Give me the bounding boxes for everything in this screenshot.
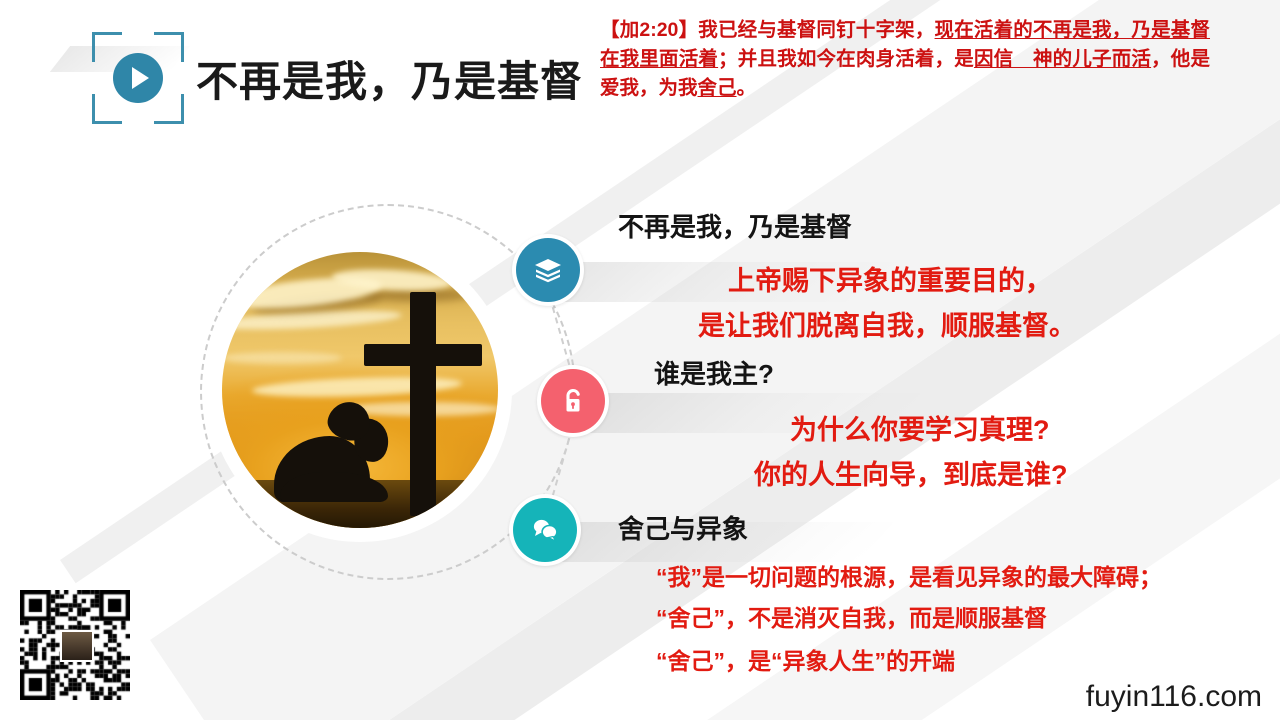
chat-bubbles-icon — [513, 498, 577, 562]
block-2-line-2: 你的人生向导，到底是谁? — [754, 453, 1068, 492]
block-1-heading: 不再是我，乃是基督 — [618, 213, 1076, 242]
bullet-icon-chat[interactable] — [509, 494, 581, 566]
content-block-3: 舍己与异象 “我”是一切问题的根源，是看见异象的最大障碍； “舍己”，不是消灭自… — [618, 515, 1162, 676]
block-3-line-2: “舍己”，不是消灭自我，而是顺服基督 — [656, 599, 1162, 633]
logo-frame — [92, 32, 184, 124]
site-watermark: fuyin116.com — [1086, 680, 1262, 714]
qr-center-logo — [60, 630, 94, 662]
content-block-1: 不再是我，乃是基督 上帝赐下异象的重要目的， 是让我们脱离自我，顺服基督。 — [618, 213, 1076, 343]
layers-icon — [516, 238, 580, 302]
block-2-heading: 谁是我主? — [654, 360, 1068, 389]
play-button-icon — [113, 53, 163, 103]
block-3-line-1: “我”是一切问题的根源，是看见异象的最大障碍； — [656, 558, 1162, 592]
bullet-icon-unlock[interactable] — [537, 365, 609, 437]
content-block-2: 谁是我主? 为什么你要学习真理? 你的人生向导，到底是谁? — [654, 360, 1068, 492]
block-3-line-3: “舍己”，是“异象人生”的开端 — [656, 642, 1162, 676]
scripture-verse: 【加2:20】我已经与基督同钉十字架，现在活着的不再是我，乃是基督在我里面活着；… — [600, 16, 1210, 103]
qr-code[interactable] — [20, 590, 130, 700]
cross-silhouette — [410, 292, 436, 516]
page-title: 不再是我，乃是基督 — [196, 48, 583, 109]
praying-person-silhouette — [274, 392, 394, 502]
sunset-cross-image — [222, 252, 498, 528]
slide-canvas: 不再是我，乃是基督 【加2:20】我已经与基督同钉十字架，现在活着的不再是我，乃… — [0, 0, 1280, 720]
block-1-line-1: 上帝赐下异象的重要目的， — [728, 259, 1076, 298]
unlock-icon — [541, 369, 605, 433]
block-2-line-1: 为什么你要学习真理? — [790, 408, 1068, 447]
bullet-icon-layers[interactable] — [512, 234, 584, 306]
block-1-line-2: 是让我们脱离自我，顺服基督。 — [698, 304, 1076, 343]
block-3-heading: 舍己与异象 — [618, 515, 1162, 544]
